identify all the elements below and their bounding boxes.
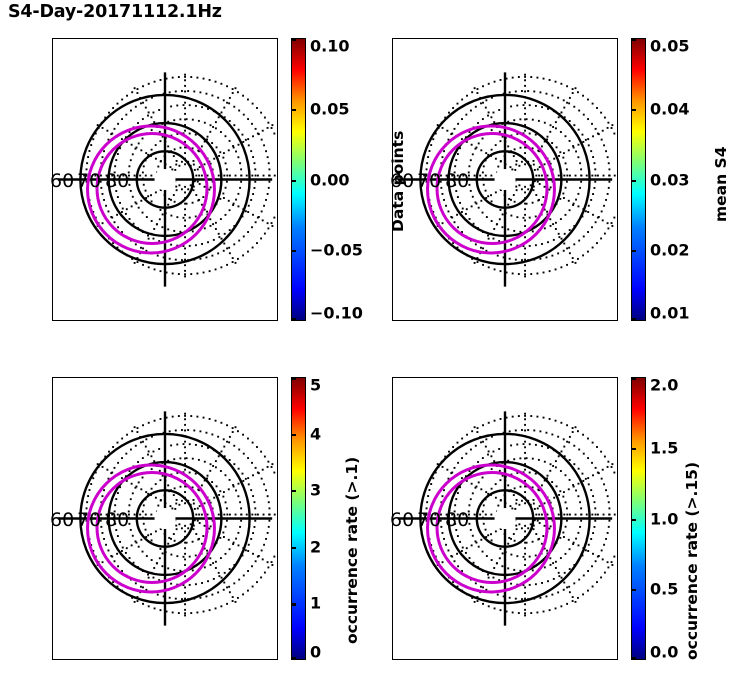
grid-dot [546,211,548,213]
grid-dot [448,451,450,453]
grid-dot [575,262,577,264]
grid-dot [250,538,252,540]
grid-dot [555,460,557,462]
grid-dot [264,233,266,235]
grid-dot [572,431,574,433]
grid-dot [183,217,185,219]
grid-dot [608,514,610,516]
grid-dot [611,564,613,566]
lat-label-70: 70 [417,509,441,531]
grid-dot [224,572,226,574]
grid-dot [562,193,564,195]
grid-dot [219,151,221,153]
grid-dot [223,250,225,252]
grid-dot [264,572,266,574]
colorbar-bottom-right[interactable]: 0.00.51.01.52.0 [631,377,646,660]
grid-dot [202,535,204,537]
grid-dot [516,105,518,107]
grid-dot [273,472,275,474]
grid-dot [501,226,503,228]
grid-dot [532,202,534,204]
grid-dot [233,124,235,126]
grid-dot [170,105,172,107]
grid-dot [543,611,545,613]
grid-dot [139,175,141,177]
grid-dot [172,77,174,79]
grid-dot [582,593,584,595]
grid-dot [189,133,191,135]
grid-dot [178,76,180,78]
grid-dot [142,247,144,249]
grid-dot [114,165,116,167]
grid-dot [568,149,570,151]
grid-dot [156,562,158,564]
grid-dot [480,247,482,249]
grid-dot [564,233,566,235]
grid-dot [184,107,186,109]
colorbar-tick-label: 0.01 [650,304,689,323]
grid-dot [181,259,183,261]
grid-dot [183,556,185,558]
grid-dot [587,138,589,140]
panel-bottom-left[interactable]: 60 70 80 [52,377,278,660]
grid-dot [566,424,568,426]
grid-dot [575,490,577,492]
grid-dot [514,487,516,489]
grid-dot [477,122,479,124]
panel-top-right[interactable]: 60 70 80 [392,38,618,321]
grid-dot [550,525,552,527]
grid-dot [582,473,584,475]
grid-dot [514,201,516,203]
grid-dot [577,156,579,158]
grid-dot [204,566,206,568]
grid-dot [521,161,523,163]
grid-dot [156,223,158,225]
grid-dot [611,561,613,563]
grid-dot [611,222,613,224]
grid-dot [87,495,89,497]
grid-dot [482,603,484,605]
grid-dot [274,175,276,177]
grid-dot [102,561,104,563]
grid-dot [461,550,463,552]
grid-dot [512,273,514,275]
grid-dot [515,164,517,166]
grid-dot [560,470,562,472]
grid-dot [150,194,152,196]
grid-dot [559,490,561,492]
grid-dot [122,547,124,549]
grid-dot [604,456,606,458]
grid-dot [240,507,242,509]
grid-dot [271,564,273,566]
grid-dot [532,119,534,121]
grid-dot [499,218,501,220]
grid-dot [238,449,240,451]
grid-dot [466,547,468,549]
grid-dot [142,172,144,174]
grid-dot [256,242,258,244]
grid-dot [154,81,156,83]
grid-dot [488,605,490,607]
grid-dot [252,103,254,105]
grid-dot [529,556,531,558]
grid-dot [541,582,543,584]
grid-dot [102,466,104,468]
grid-dot [478,207,480,209]
grid-dot [134,262,136,264]
grid-dot [150,533,152,535]
grid-dot [524,558,526,560]
grid-dot [582,480,584,482]
grid-dot [597,175,599,177]
grid-dot [607,461,609,463]
grid-dot [588,544,590,546]
grid-dot [539,597,541,599]
grid-dot [536,416,538,418]
grid-dot [524,79,526,81]
grid-dot [175,430,177,432]
grid-dot [237,532,239,534]
grid-dot [552,562,554,564]
grid-dot [557,97,559,99]
grid-dot [461,457,463,459]
grid-dot [524,430,526,432]
colorbar-tick-label: 0.05 [650,37,689,56]
grid-dot [255,560,257,562]
grid-dot [448,211,450,213]
grid-dot [578,110,580,112]
grid-dot [524,592,526,594]
grid-dot [563,243,565,245]
grid-dot [607,561,609,563]
grid-dot [175,186,177,188]
grid-dot [524,564,526,566]
grid-dot [521,90,523,92]
grid-dot [245,139,247,141]
grid-dot [181,429,183,431]
grid-dot [184,79,186,81]
grid-dot [184,113,186,115]
colorbar-label-mean-s4: mean S4 [712,146,730,222]
grid-dot [613,556,615,558]
grid-dot [445,205,447,207]
grid-dot [257,133,259,135]
grid-dot [491,149,493,151]
grid-dot [196,416,198,418]
grid-dot [443,150,445,152]
grid-dot [130,498,132,500]
grid-dot [147,195,149,197]
grid-dot [189,245,191,247]
grid-dot [587,99,589,101]
grid-dot [220,557,222,559]
grid-dot [566,175,568,177]
grid-dot [457,462,459,464]
grid-dot [457,535,459,537]
grid-dot [516,444,518,446]
grid-dot [228,441,230,443]
grid-dot [587,550,589,552]
colorbar-bottom-left[interactable]: 012345 [291,377,306,660]
grid-dot [225,553,227,555]
grid-dot [211,434,213,436]
grid-dot [607,227,609,229]
grid-dot [178,184,180,186]
grid-dot [267,532,269,534]
colorbar-tick-label: 1 [310,594,321,613]
grid-dot [587,590,589,592]
colorbar-tick-label: −0.10 [310,304,363,323]
grid-dot [480,149,482,151]
grid-dot [513,458,515,460]
colorbar-top-right[interactable]: 0.010.020.030.040.05 [631,38,646,321]
grid-dot [595,514,597,516]
grid-dot [201,543,203,545]
grid-dot [524,275,526,277]
grid-dot [89,150,91,152]
grid-dot [524,107,526,109]
grid-dot [543,272,545,274]
grid-dot [482,102,484,104]
grid-dot [445,544,447,546]
grid-dot [608,501,610,503]
grid-dot [541,106,543,108]
grid-dot [497,255,499,257]
grid-dot [267,127,269,129]
grid-dot [137,427,139,429]
grid-dot [226,520,228,522]
grid-dot [108,550,110,552]
grid-dot [568,539,570,541]
grid-dot [483,523,485,525]
grid-dot [195,583,197,585]
grid-dot [220,218,222,220]
grid-dot [174,508,176,510]
grid-dot [237,91,239,93]
grid-dot [145,491,147,493]
grid-dot [159,479,161,481]
grid-dot [184,214,186,216]
colorbar-tick-label: 0.00 [310,170,349,189]
grid-dot [605,489,607,491]
grid-dot [577,258,579,260]
grid-dot [184,430,186,432]
grid-dot [568,488,570,490]
grid-dot [454,504,456,506]
grid-dot [607,532,609,534]
grid-dot [131,430,133,432]
grid-dot [468,165,470,167]
grid-dot [271,127,273,129]
grid-dot [117,535,119,537]
grid-dot [566,441,568,443]
grid-dot [111,133,113,135]
grid-dot [534,508,536,510]
grid-dot [150,116,152,118]
grid-dot [235,514,237,516]
grid-dot [470,449,472,451]
grid-dot [238,205,240,207]
grid-dot [193,430,195,432]
grid-dot [187,188,189,190]
grid-dot [475,445,477,447]
grid-dot [184,547,186,549]
grid-dot [242,95,244,97]
grid-dot [555,466,557,468]
grid-dot [552,126,554,128]
grid-dot [251,175,253,177]
grid-dot [145,438,147,440]
grid-dot [250,489,252,491]
grid-dot [235,87,237,89]
grid-dot [488,450,490,452]
grid-dot [238,144,240,146]
grid-dot [524,119,526,121]
grid-dot [189,584,191,586]
grid-dot [133,223,135,225]
grid-dot [173,155,175,157]
grid-dot [225,526,227,528]
grid-dot [516,499,518,501]
grid-dot [105,205,107,207]
grid-dot [532,230,534,232]
grid-dot [524,603,526,605]
grid-dot [485,446,487,448]
grid-dot [160,270,162,272]
grid-dot [607,193,609,195]
grid-dot [212,465,214,467]
grid-dot [159,557,161,559]
grid-dot [507,484,509,486]
grid-dot [587,457,589,459]
grid-dot [117,103,119,105]
grid-dot [196,77,198,79]
grid-dot [488,422,490,424]
grid-dot [204,525,206,527]
grid-dot [159,218,161,220]
grid-dot [601,550,603,552]
grid-dot [252,553,254,555]
grid-dot [151,488,153,490]
grid-dot [488,238,490,240]
grid-dot [587,570,589,572]
grid-dot [206,550,208,552]
grid-dot [541,543,543,545]
grid-dot [229,140,231,142]
grid-dot [219,537,221,539]
grid-dot [513,533,515,535]
grid-dot [161,565,163,567]
grid-dot [243,114,245,116]
grid-dot [130,110,132,112]
grid-dot [114,504,116,506]
grid-dot [490,533,492,535]
grid-dot [592,442,594,444]
grid-dot [473,562,475,564]
panel-bottom-right[interactable]: 60 70 80 [392,377,618,660]
grid-dot [199,430,201,432]
grid-dot [565,187,567,189]
grid-dot [251,514,253,516]
grid-dot [192,230,194,232]
grid-dot [524,270,526,272]
grid-dot [551,594,553,596]
grid-dot [533,160,535,162]
grid-dot [514,148,516,150]
grid-dot [184,609,186,611]
grid-dot [106,130,108,132]
grid-dot [477,427,479,429]
grid-dot [250,150,252,152]
grid-dot [174,201,176,203]
grid-dot [216,146,218,148]
grid-dot [238,483,240,485]
panel-top-left[interactable]: 60 70 80 [52,38,278,321]
grid-dot [544,227,546,229]
grid-dot [555,561,557,563]
grid-dot [255,467,257,469]
grid-dot [509,597,511,599]
grid-dot [480,488,482,490]
grid-dot [611,127,613,129]
colorbar-top-left[interactable]: −0.10−0.050.000.050.10 [291,38,306,321]
grid-dot [555,228,557,230]
grid-dot [220,470,222,472]
grid-dot [102,193,104,195]
grid-dot [597,217,599,219]
grid-dot [514,169,516,171]
grid-dot [87,156,89,158]
grid-dot [268,520,270,522]
grid-dot [226,424,228,426]
grid-dot [614,514,616,516]
grid-dot [173,494,175,496]
grid-dot [246,175,248,177]
grid-dot [115,159,117,161]
grid-dot [524,264,526,266]
grid-dot [511,168,513,170]
grid-dot [542,196,544,198]
grid-dot [541,243,543,245]
grid-dot [193,503,195,505]
grid-dot [524,612,526,614]
grid-dot [442,532,444,534]
grid-dot [472,535,474,537]
grid-dot [544,461,546,463]
grid-dot [194,169,196,171]
grid-dot [572,600,574,602]
grid-dot [239,187,241,189]
grid-dot [210,463,212,465]
grid-dot [209,270,211,272]
grid-dot [558,236,560,238]
grid-dot [140,247,142,249]
grid-dot [216,485,218,487]
grid-dot [271,225,273,227]
grid-dot [102,127,104,129]
grid-dot [167,567,169,569]
grid-dot [184,119,186,121]
colorbar-tick-label: 4 [310,424,321,443]
grid-dot [510,538,512,540]
grid-dot [273,133,275,135]
grid-dot [192,119,194,121]
grid-dot [268,526,270,528]
grid-dot [210,225,212,227]
grid-dot [184,102,186,104]
